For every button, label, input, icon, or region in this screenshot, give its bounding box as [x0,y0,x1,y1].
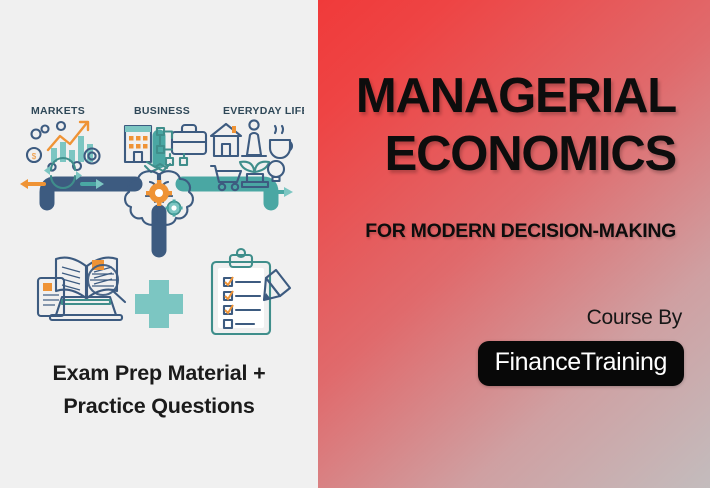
plus-sign-icon [135,280,183,328]
course-by-label: Course By [587,306,682,330]
left-panel: .ln{fill:none;stroke:#3d5b80;stroke-widt… [0,0,318,488]
label-everyday-life: EVERYDAY LIFE [223,105,304,117]
label-markets: MARKETS [31,105,85,117]
label-business: BUSINESS [134,105,190,117]
page-title: MANAGERIAL ECONOMICS [318,68,676,184]
page-subtitle: FOR MODERN DECISION-MAKING [365,220,676,243]
left-caption-line-1: Exam Prep Material + [9,357,309,390]
course-poster: .ln{fill:none;stroke:#3d5b80;stroke-widt… [0,0,710,488]
title-line-1: MANAGERIAL [318,68,676,126]
concept-illustration: .ln{fill:none;stroke:#3d5b80;stroke-widt… [14,100,304,335]
left-caption: Exam Prep Material + Practice Questions [9,357,309,424]
right-panel: MANAGERIAL ECONOMICS FOR MODERN DECISION… [318,0,710,488]
brain-gears-icon [125,171,193,225]
svg-text:$: $ [32,152,37,161]
title-line-2: ECONOMICS [318,126,676,184]
left-caption-line-2: Practice Questions [9,390,309,423]
study-material-icons [38,249,290,334]
brand-badge: FinanceTraining [478,341,684,386]
